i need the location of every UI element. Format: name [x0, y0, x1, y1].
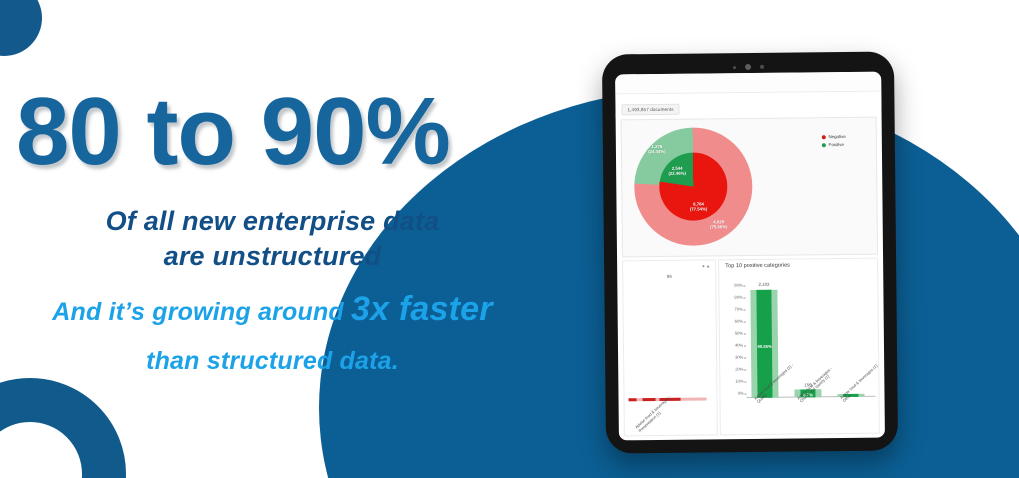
bar-group[interactable]: Advise food & beverages (1) - Other — [837, 283, 865, 397]
panel-toolbar-icons[interactable]: ●▲ — [702, 263, 711, 268]
y-axis-tick: 20% — [735, 367, 743, 372]
sensor-dot-icon — [760, 65, 764, 69]
y-axis-tick: 80% — [734, 295, 742, 300]
y-axis-tick: 90% — [734, 283, 742, 288]
subtitle-line-3-prefix: And it’s growing around — [52, 298, 351, 326]
positive-categories-panel[interactable]: Top 10 positive categories 90%80%70%60%5… — [718, 258, 880, 436]
donut-label-inner-negative: 8,784(77.54%) — [678, 201, 718, 212]
document-count-row: 1,493,857 documents — [615, 92, 881, 119]
x-axis-category-label: Advise food & beverages (1) - Other — [840, 362, 880, 404]
y-axis-tick: 30% — [735, 355, 743, 360]
legend-item-positive[interactable]: Positive — [822, 142, 846, 147]
subtitle-line-4: than structured data. — [0, 345, 545, 378]
app-top-bar — [615, 72, 881, 95]
y-axis-tick: 10% — [735, 379, 743, 384]
legend-item-negative[interactable]: Negative — [821, 134, 845, 139]
camera-lens-icon — [745, 64, 751, 70]
legend-label-positive: Positive — [829, 142, 844, 147]
y-axis-tick: 50% — [735, 331, 743, 336]
camera-dot-icon — [733, 66, 736, 69]
decorative-circle-top-left — [0, 0, 42, 56]
bar-group[interactable]: 2,10390.26%Advise food & beverages (1) -… — [751, 284, 779, 398]
legend-swatch-negative-icon — [821, 135, 825, 139]
y-axis-tick: 0% — [738, 391, 744, 396]
negative-categories-panel[interactable]: ●▲ 86 Advise food & beverages - Presenta… — [622, 259, 718, 436]
bar-percent-label: 90.26% — [757, 343, 772, 348]
subtitle-emphasis: 3x faster — [351, 290, 493, 328]
y-axis-tick: 40% — [735, 343, 743, 348]
tablet-device: 1,493,857 documents 1,275(24.04%) 2,544(… — [602, 51, 898, 453]
subtitle-line-1: Of all new enterprise data — [0, 204, 545, 239]
document-count-badge: 1,493,857 documents — [621, 104, 679, 116]
y-axis-tick: 60% — [735, 319, 743, 324]
legend-swatch-positive-icon — [822, 143, 826, 147]
y-axis-tick: 70% — [735, 307, 743, 312]
legend-label-negative: Negative — [828, 134, 845, 139]
subtitle-line-2: are unstructured — [0, 239, 545, 274]
donut-label-inner-positive: 2,544(22.46%) — [658, 166, 696, 177]
bar-count-label: 2,103 — [751, 282, 778, 287]
headline-statistic: 80 to 90% — [16, 84, 556, 180]
infographic-canvas: 80 to 90% Of all new enterprise data are… — [0, 0, 1019, 478]
left-panel-top-value: 86 — [623, 273, 715, 279]
donut-legend[interactable]: Negative Positive — [821, 134, 846, 150]
subtitle-line-3: And it’s growing around 3x faster — [0, 287, 545, 331]
lower-panels: ●▲ 86 Advise food & beverages - Presenta… — [622, 258, 880, 437]
left-panel-x-label: Advise food & beverages - Presentation (… — [635, 388, 682, 433]
decorative-ring-bottom-left — [0, 378, 126, 478]
bar-group[interactable]: 1566.7%Advise food & beverages - Choice … — [794, 283, 822, 397]
donut-chart-panel[interactable]: 1,275(24.04%) 2,544(22.46%) 8,784(77.54%… — [621, 117, 878, 258]
donut-label-outer-positive: 1,275(24.04%) — [638, 144, 676, 155]
subtitle-block: Of all new enterprise data are unstructu… — [0, 204, 545, 378]
bar-chart-plot[interactable]: 90%80%70%60%50%40%30%20%10%0%2,10390.26%… — [745, 283, 875, 398]
tablet-screen: 1,493,857 documents 1,275(24.04%) 2,544(… — [615, 72, 885, 441]
bar-chart-title: Top 10 positive categories — [725, 263, 790, 270]
donut-label-outer-negative: 4,029(75.96%) — [699, 219, 739, 230]
